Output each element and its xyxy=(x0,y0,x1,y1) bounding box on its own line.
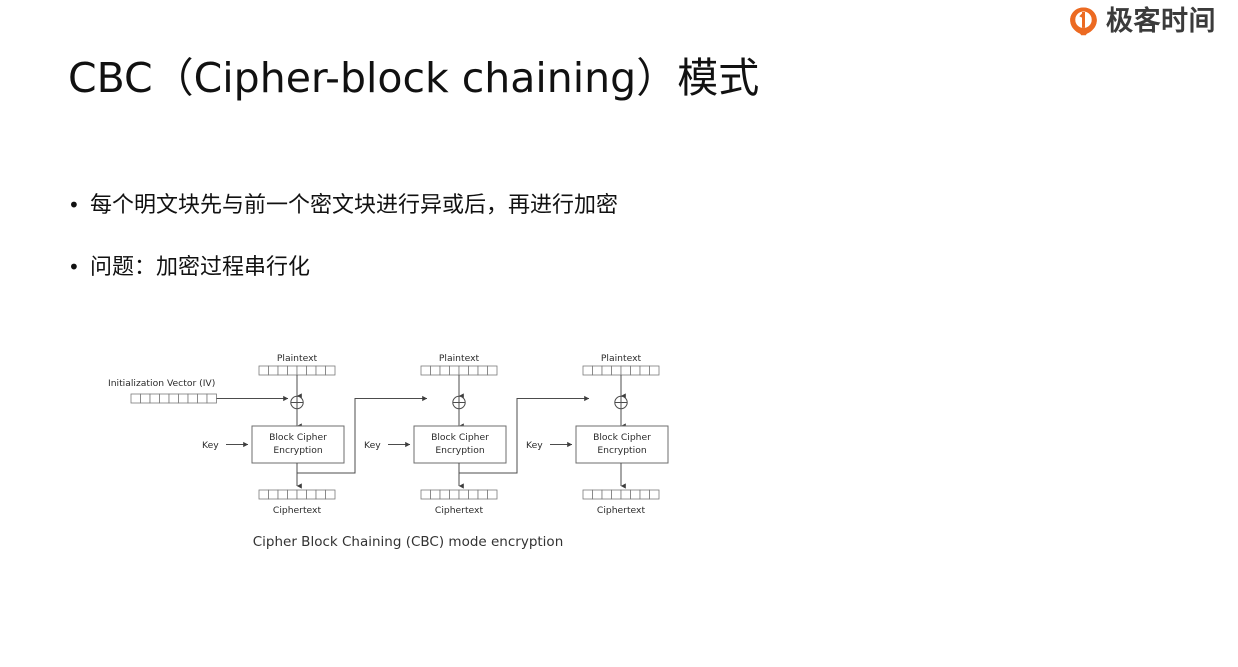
ciphertext-bits-3 xyxy=(583,490,659,499)
plaintext-bits-1 xyxy=(259,366,335,375)
ciphertext-label-2: Ciphertext xyxy=(435,505,484,516)
bullet-list: • 每个明文块先与前一个密文块进行异或后，再进行加密 • 问题：加密过程串行化 xyxy=(68,190,868,314)
xor-gate-2 xyxy=(453,396,465,408)
cbc-mode-diagram: Plaintext Initialization Vector (IV) Key xyxy=(100,344,700,559)
block-cipher-title-1: Block Cipher xyxy=(269,432,327,443)
key-label-2: Key xyxy=(364,440,381,451)
ciphertext-bits-2 xyxy=(421,490,497,499)
page-title: CBC（Cipher-block chaining）模式 xyxy=(68,54,759,103)
diagram-caption: Cipher Block Chaining (CBC) mode encrypt… xyxy=(253,534,564,550)
ciphertext-label-3: Ciphertext xyxy=(597,505,646,516)
bullet-marker-icon: • xyxy=(68,191,90,220)
block-cipher-title-3: Block Cipher xyxy=(593,432,651,443)
xor-gate-3 xyxy=(615,396,627,408)
brand-logo-text: 极客时间 xyxy=(1106,8,1216,35)
bullet-text: 问题：加密过程串行化 xyxy=(90,252,868,284)
list-item: • 问题：加密过程串行化 xyxy=(68,252,868,284)
xor-gate-1 xyxy=(291,396,303,408)
iv-label: Initialization Vector (IV) xyxy=(108,378,215,389)
block-cipher-subtitle-2: Encryption xyxy=(435,445,485,456)
key-label-1: Key xyxy=(202,440,219,451)
key-label-3: Key xyxy=(526,440,543,451)
geektime-drop-icon xyxy=(1068,6,1099,37)
block-cipher-subtitle-1: Encryption xyxy=(273,445,323,456)
ciphertext-bits-1 xyxy=(259,490,335,499)
bullet-text: 每个明文块先与前一个密文块进行异或后，再进行加密 xyxy=(90,190,868,222)
brand-logo: 极客时间 xyxy=(1068,6,1216,37)
plaintext-bits-3 xyxy=(583,366,659,375)
ciphertext-label-1: Ciphertext xyxy=(273,505,322,516)
plaintext-label-2: Plaintext xyxy=(439,353,480,364)
bullet-marker-icon: • xyxy=(68,253,90,282)
plaintext-bits-2 xyxy=(421,366,497,375)
block-cipher-title-2: Block Cipher xyxy=(431,432,489,443)
list-item: • 每个明文块先与前一个密文块进行异或后，再进行加密 xyxy=(68,190,868,222)
iv-bits xyxy=(131,394,217,403)
block-cipher-subtitle-3: Encryption xyxy=(597,445,647,456)
plaintext-label-3: Plaintext xyxy=(601,353,642,364)
plaintext-label-1: Plaintext xyxy=(277,353,318,364)
